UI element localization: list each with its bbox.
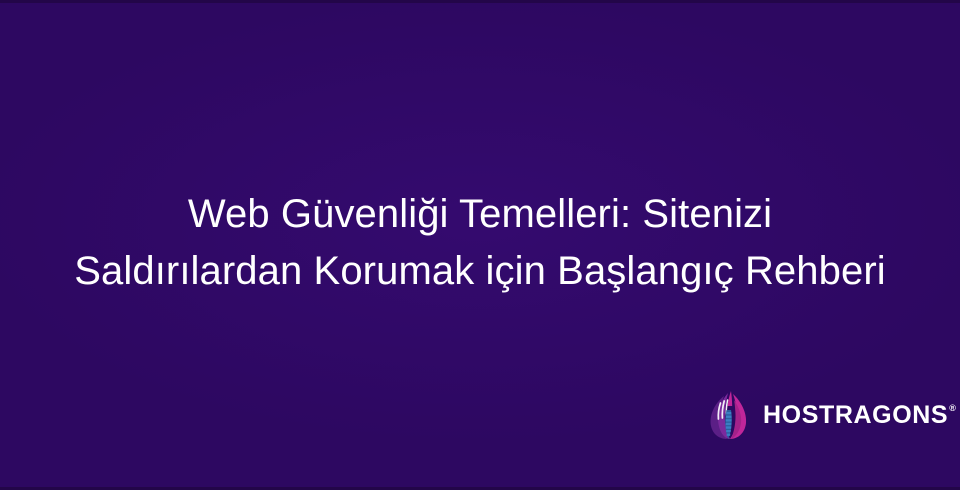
page-title: Web Güvenliği Temelleri: Sitenizi Saldır…	[0, 186, 960, 300]
hostragons-wordmark-text: HOSTRAGONS	[763, 403, 948, 428]
page-title-line-1: Web Güvenliği Temelleri: Sitenizi	[0, 186, 960, 243]
top-edge-line	[0, 0, 960, 3]
article-header-banner: Web Güvenliği Temelleri: Sitenizi Saldır…	[0, 0, 960, 490]
page-title-line-2: Saldırılardan Korumak için Başlangıç Reh…	[0, 243, 960, 300]
registered-trademark-icon: ®	[949, 404, 956, 413]
hostragons-dragon-icon	[706, 390, 752, 440]
hostragons-wordmark: HOSTRAGONS ®	[763, 403, 956, 428]
hostragons-logo[interactable]: HOSTRAGONS ®	[706, 390, 956, 440]
